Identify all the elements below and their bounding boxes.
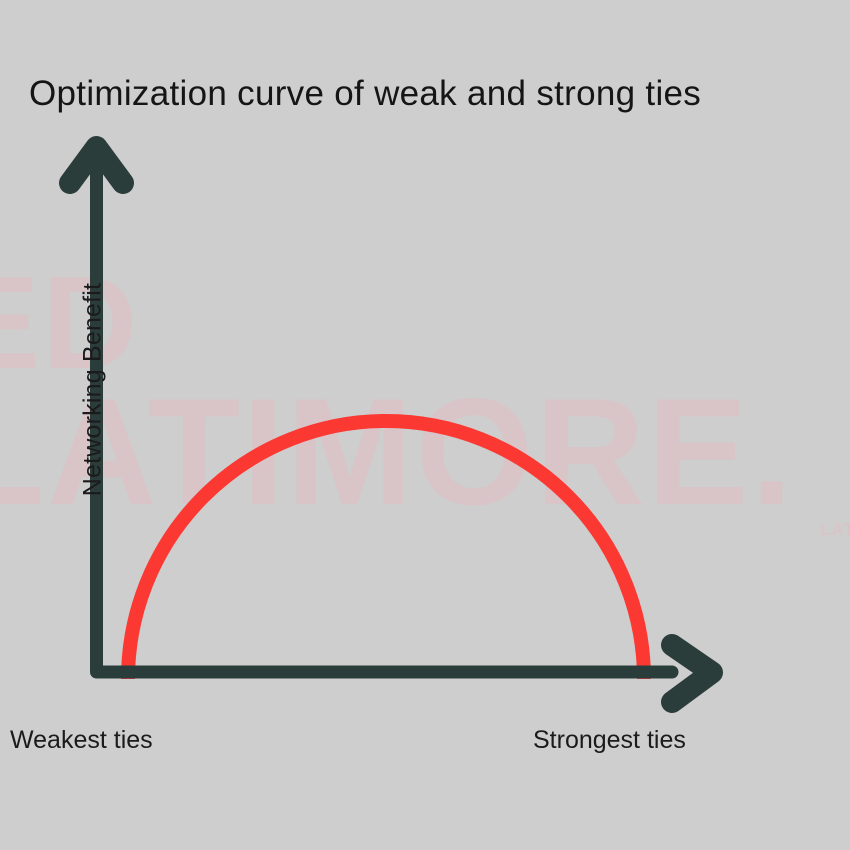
x-axis-label-left: Weakest ties [10,726,153,755]
axes-layer [0,0,850,850]
chart-title: Optimization curve of weak and strong ti… [29,74,701,114]
x-axis-label-right: Strongest ties [533,726,686,755]
infographic-canvas: ED LATIMORE. LATIMORE Optimization curve… [0,0,850,850]
y-axis-label: Networking Benefit [79,240,108,540]
axis-lines [97,160,673,672]
